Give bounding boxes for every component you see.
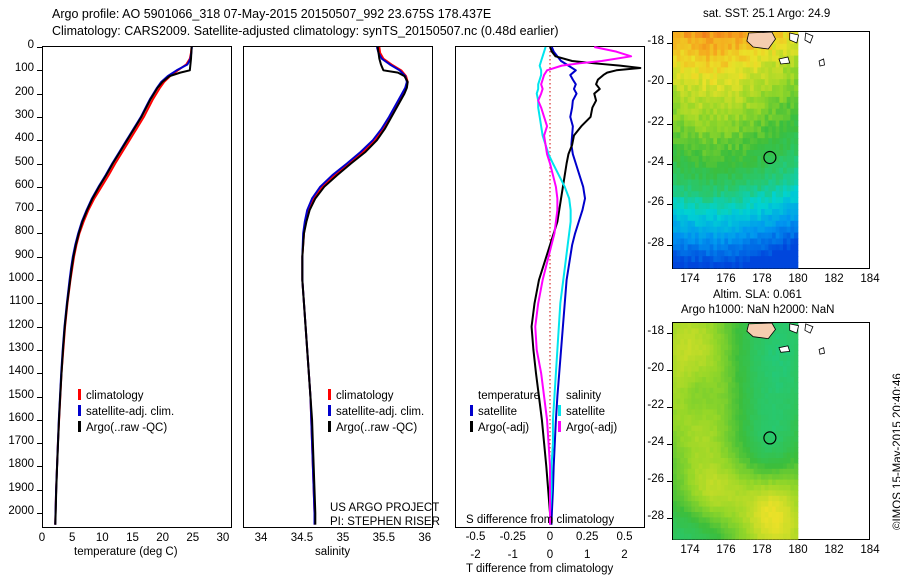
map-data-cell — [776, 227, 780, 234]
map-data-cell — [702, 121, 706, 128]
map-data-cell — [695, 203, 699, 210]
map-data-cell — [790, 496, 794, 502]
temperature-x-ticks: 051015202530 — [42, 530, 232, 546]
map-data-cell — [680, 73, 684, 80]
map-data-cell — [728, 474, 732, 480]
map-data-cell — [743, 67, 747, 74]
map-data-cell — [688, 404, 692, 410]
map-data-cell — [684, 463, 688, 469]
legend-item: climatology — [328, 388, 424, 404]
map-data-cell — [761, 215, 765, 222]
map-data-cell — [680, 480, 684, 486]
map-data-cell — [772, 534, 776, 540]
map-data-cell — [757, 382, 761, 388]
map-data-cell — [699, 393, 703, 399]
map-data-cell — [699, 209, 703, 216]
map-data-cell — [706, 250, 710, 256]
depth-tick-mark — [37, 47, 42, 48]
map-data-cell — [790, 507, 794, 513]
map-data-cell — [750, 453, 754, 459]
map-data-cell — [735, 366, 739, 372]
map-data-cell — [790, 339, 794, 345]
map-data-cell — [783, 91, 787, 98]
depth-tick-label: 1200 — [8, 319, 34, 331]
map-data-cell — [787, 512, 791, 518]
map-data-cell — [684, 501, 688, 507]
map-data-cell — [739, 109, 743, 116]
map-data-cell — [743, 480, 747, 486]
map-data-cell — [710, 442, 714, 448]
map-data-cell — [776, 366, 780, 372]
map-data-cell — [702, 480, 706, 486]
map-data-cell — [721, 168, 725, 175]
map-data-cell — [746, 44, 750, 51]
map-data-cell — [691, 79, 695, 86]
map-data-cell — [746, 191, 750, 198]
map-data-cell — [699, 67, 703, 74]
map-data-cell — [688, 339, 692, 345]
map-data-cell — [783, 404, 787, 410]
map-data-cell — [779, 431, 783, 437]
map-data-cell — [721, 517, 725, 523]
map-data-cell — [783, 523, 787, 529]
map-data-cell — [750, 109, 754, 116]
map-data-cell — [783, 463, 787, 469]
map-data-cell — [699, 453, 703, 459]
map-data-cell — [779, 115, 783, 122]
map-data-cell — [673, 132, 677, 139]
map-data-cell — [794, 233, 798, 240]
map-data-cell — [684, 91, 688, 98]
map-data-cell — [713, 203, 717, 210]
axis-tick-label: 36 — [418, 532, 431, 544]
map-data-cell — [768, 377, 772, 383]
map-data-cell — [728, 221, 732, 228]
map-data-cell — [702, 115, 706, 122]
map-data-cell — [680, 79, 684, 86]
map-data-cell — [677, 191, 681, 198]
map-data-cell — [691, 534, 695, 540]
map-data-cell — [695, 256, 699, 263]
map-data-cell — [754, 382, 758, 388]
map-data-cell — [724, 409, 728, 415]
map-data-cell — [757, 361, 761, 367]
map-data-cell — [754, 377, 758, 383]
map-data-cell — [702, 382, 706, 388]
map-data-cell — [677, 150, 681, 157]
map-data-cell — [724, 168, 728, 175]
map-data-cell — [732, 436, 736, 442]
map-data-cell — [739, 350, 743, 356]
map-data-cell — [728, 162, 732, 169]
map-data-cell — [695, 44, 699, 51]
map-data-cell — [754, 512, 758, 518]
map-data-cell — [684, 507, 688, 513]
map-data-cell — [757, 404, 761, 410]
map-data-cell — [710, 420, 714, 426]
map-data-cell — [765, 244, 769, 251]
map-data-cell — [717, 436, 721, 442]
map-data-cell — [684, 447, 688, 453]
map-data-cell — [684, 191, 688, 198]
map-data-cell — [765, 209, 769, 216]
map-data-cell — [684, 523, 688, 529]
longitude-tick-label: 176 — [716, 544, 735, 556]
map-data-cell — [757, 528, 761, 534]
map-data-cell — [790, 197, 794, 204]
map-data-cell — [739, 85, 743, 92]
map-data-cell — [776, 485, 780, 491]
map-data-cell — [677, 162, 681, 169]
map-data-cell — [790, 44, 794, 51]
map-data-cell — [794, 185, 798, 192]
depth-tick-label: 2000 — [8, 505, 34, 517]
map-data-cell — [761, 221, 765, 228]
map-data-cell — [721, 191, 725, 198]
map-data-cell — [761, 91, 765, 98]
map-data-cell — [713, 103, 717, 110]
map-data-cell — [787, 453, 791, 459]
map-data-cell — [761, 388, 765, 394]
map-data-cell — [776, 404, 780, 410]
map-data-cell — [790, 91, 794, 98]
map-data-cell — [702, 79, 706, 86]
map-data-cell — [768, 528, 772, 534]
map-data-cell — [743, 334, 747, 340]
map-data-cell — [713, 221, 717, 228]
map-data-cell — [761, 523, 765, 529]
map-data-cell — [787, 156, 791, 163]
map-data-cell — [776, 239, 780, 246]
series-climatology — [55, 47, 191, 525]
map-data-cell — [677, 168, 681, 175]
map-data-cell — [717, 156, 721, 163]
map-data-cell — [761, 162, 765, 169]
map-data-cell — [713, 126, 717, 132]
map-data-cell — [721, 382, 725, 388]
map-data-cell — [680, 62, 684, 69]
depth-tick-label: 200 — [15, 86, 34, 98]
map-data-cell — [673, 415, 677, 421]
map-data-cell — [688, 109, 692, 116]
map-data-cell — [750, 420, 754, 426]
map-data-cell — [710, 501, 714, 507]
map-data-cell — [677, 103, 681, 110]
map-data-cell — [732, 534, 736, 540]
map-data-cell — [728, 103, 732, 110]
map-data-cell — [717, 79, 721, 86]
map-data-cell — [702, 150, 706, 157]
map-data-cell — [717, 209, 721, 216]
map-data-cell — [724, 393, 728, 399]
map-data-cell — [677, 339, 681, 345]
map-data-cell — [772, 209, 776, 216]
map-data-cell — [743, 339, 747, 345]
map-data-cell — [732, 507, 736, 513]
map-data-cell — [794, 250, 798, 256]
map-data-cell — [739, 485, 743, 491]
map-data-cell — [688, 474, 692, 480]
map-data-cell — [768, 480, 772, 486]
map-data-cell — [728, 339, 732, 345]
map-data-cell — [750, 447, 754, 453]
map-data-cell — [724, 480, 728, 486]
map-data-cell — [717, 256, 721, 263]
map-data-cell — [772, 399, 776, 405]
map-data-cell — [768, 404, 772, 410]
map-data-cell — [739, 256, 743, 263]
map-data-cell — [776, 409, 780, 415]
map-data-cell — [680, 377, 684, 383]
map-data-cell — [779, 109, 783, 116]
map-data-cell — [699, 496, 703, 502]
map-data-cell — [779, 388, 783, 394]
map-data-cell — [706, 97, 710, 104]
map-data-cell — [768, 91, 772, 98]
map-data-cell — [710, 474, 714, 480]
map-data-cell — [695, 334, 699, 340]
map-data-cell — [761, 233, 765, 240]
map-data-cell — [757, 393, 761, 399]
map-data-cell — [702, 517, 706, 523]
map-data-cell — [728, 168, 732, 175]
map-data-cell — [680, 50, 684, 57]
map-data-cell — [699, 334, 703, 340]
map-data-cell — [790, 431, 794, 437]
map-data-cell — [721, 463, 725, 469]
map-data-cell — [735, 409, 739, 415]
map-data-cell — [695, 366, 699, 372]
map-data-cell — [779, 79, 783, 86]
map-data-cell — [746, 485, 750, 491]
map-data-cell — [728, 132, 732, 139]
map-data-cell — [706, 203, 710, 210]
map-data-cell — [677, 426, 681, 432]
map-data-cell — [695, 79, 699, 86]
map-data-cell — [757, 91, 761, 98]
map-data-cell — [754, 366, 758, 372]
map-data-cell — [783, 221, 787, 228]
legend-item: Argo(..raw -QC) — [328, 420, 424, 436]
map-data-cell — [728, 399, 732, 405]
map-data-cell — [728, 534, 732, 540]
legend-label: climatology — [86, 390, 144, 402]
map-data-cell — [688, 436, 692, 442]
map-data-cell — [673, 345, 677, 351]
map-data-cell — [750, 463, 754, 469]
map-data-cell — [680, 442, 684, 448]
map-data-cell — [754, 197, 758, 204]
map-data-cell — [746, 156, 750, 163]
map-data-cell — [735, 91, 739, 98]
map-data-cell — [721, 209, 725, 216]
map-data-cell — [724, 469, 728, 475]
map-data-cell — [761, 174, 765, 181]
map-data-cell — [746, 244, 750, 251]
map-data-cell — [673, 56, 677, 63]
map-data-cell — [779, 399, 783, 405]
map-data-cell — [794, 203, 798, 210]
map-data-cell — [699, 480, 703, 486]
map-data-cell — [702, 399, 706, 405]
map-data-cell — [695, 523, 699, 529]
map-data-cell — [691, 339, 695, 345]
map-data-cell — [783, 490, 787, 496]
map-data-cell — [724, 244, 728, 251]
map-data-cell — [732, 121, 736, 128]
map-data-cell — [706, 56, 710, 63]
map-data-cell — [743, 191, 747, 198]
map-data-cell — [721, 79, 725, 86]
map-data-cell — [713, 377, 717, 383]
map-data-cell — [739, 528, 743, 534]
map-data-cell — [721, 442, 725, 448]
map-data-cell — [713, 168, 717, 175]
map-data-cell — [790, 262, 794, 269]
map-data-cell — [765, 399, 769, 405]
map-data-cell — [757, 350, 761, 356]
map-data-cell — [743, 420, 747, 426]
map-data-cell — [673, 458, 677, 464]
map-data-cell — [732, 501, 736, 507]
map-data-cell — [743, 458, 747, 464]
map-data-cell — [702, 221, 706, 228]
map-data-cell — [794, 393, 798, 399]
map-data-cell — [702, 191, 706, 198]
map-data-cell — [710, 126, 714, 132]
map-data-cell — [724, 501, 728, 507]
map-data-cell — [746, 517, 750, 523]
map-data-cell — [695, 350, 699, 356]
map-data-cell — [677, 244, 681, 251]
map-data-cell — [728, 496, 732, 502]
map-data-cell — [794, 420, 798, 426]
map-data-cell — [779, 517, 783, 523]
map-data-cell — [717, 490, 721, 496]
sla-map-field — [673, 323, 869, 539]
map-data-cell — [768, 221, 772, 228]
map-data-cell — [688, 62, 692, 69]
map-data-cell — [743, 73, 747, 80]
map-data-cell — [787, 174, 791, 181]
map-data-cell — [732, 469, 736, 475]
map-data-cell — [754, 215, 758, 222]
map-data-cell — [680, 191, 684, 198]
map-data-cell — [699, 262, 703, 269]
map-data-cell — [768, 239, 772, 246]
map-data-cell — [735, 388, 739, 394]
map-data-cell — [710, 399, 714, 405]
map-data-cell — [699, 144, 703, 151]
map-data-cell — [691, 168, 695, 175]
temperature-plot-area — [43, 47, 231, 527]
map-data-cell — [765, 197, 769, 204]
map-data-cell — [787, 377, 791, 383]
map-data-cell — [772, 447, 776, 453]
map-data-cell — [743, 209, 747, 216]
map-data-cell — [743, 517, 747, 523]
map-data-cell — [695, 239, 699, 246]
map-data-cell — [787, 447, 791, 453]
map-data-cell — [732, 56, 736, 63]
map-data-cell — [706, 109, 710, 116]
map-data-cell — [677, 250, 681, 256]
map-data-cell — [710, 377, 714, 383]
map-data-cell — [787, 50, 791, 57]
map-data-cell — [677, 490, 681, 496]
map-data-cell — [765, 56, 769, 63]
map-data-cell — [717, 185, 721, 192]
map-data-cell — [739, 458, 743, 464]
map-data-cell — [724, 517, 728, 523]
map-data-cell — [717, 453, 721, 459]
map-data-cell — [706, 62, 710, 69]
map-data-cell — [779, 415, 783, 421]
map-data-cell — [713, 328, 717, 334]
map-data-cell — [732, 168, 736, 175]
map-data-cell — [680, 436, 684, 442]
map-data-cell — [728, 44, 732, 51]
map-data-cell — [772, 393, 776, 399]
map-data-cell — [713, 490, 717, 496]
map-data-cell — [787, 256, 791, 263]
map-data-cell — [706, 162, 710, 169]
map-data-cell — [721, 355, 725, 361]
map-data-cell — [783, 215, 787, 222]
map-data-cell — [710, 523, 714, 529]
map-data-cell — [750, 388, 754, 394]
map-data-cell — [724, 262, 728, 269]
map-data-cell — [691, 174, 695, 181]
map-data-cell — [776, 215, 780, 222]
map-data-cell — [721, 345, 725, 351]
map-data-cell — [757, 62, 761, 69]
map-data-cell — [783, 339, 787, 345]
map-data-cell — [699, 372, 703, 378]
map-data-cell — [743, 399, 747, 405]
map-data-cell — [754, 436, 758, 442]
map-data-cell — [776, 185, 780, 192]
map-data-cell — [702, 512, 706, 518]
map-data-cell — [735, 474, 739, 480]
map-data-cell — [691, 209, 695, 216]
map-data-cell — [783, 377, 787, 383]
map-data-cell — [743, 328, 747, 334]
map-data-cell — [746, 97, 750, 104]
map-data-cell — [710, 144, 714, 151]
map-data-cell — [695, 426, 699, 432]
map-data-cell — [790, 115, 794, 122]
map-data-cell — [743, 215, 747, 222]
map-data-cell — [673, 372, 677, 378]
map-data-cell — [772, 197, 776, 204]
map-data-cell — [706, 453, 710, 459]
map-data-cell — [732, 62, 736, 69]
map-data-cell — [757, 168, 761, 175]
map-data-cell — [688, 144, 692, 151]
map-data-cell — [721, 109, 725, 116]
map-data-cell — [794, 262, 798, 269]
map-data-cell — [750, 150, 754, 157]
map-data-cell — [743, 203, 747, 210]
map-data-cell — [790, 50, 794, 57]
map-data-cell — [790, 227, 794, 234]
map-data-cell — [779, 244, 783, 251]
legend-label: satellite-adj. clim. — [336, 406, 424, 418]
latitude-tick-label: -20 — [647, 362, 664, 374]
map-data-cell — [746, 355, 750, 361]
map-data-cell — [706, 180, 710, 187]
